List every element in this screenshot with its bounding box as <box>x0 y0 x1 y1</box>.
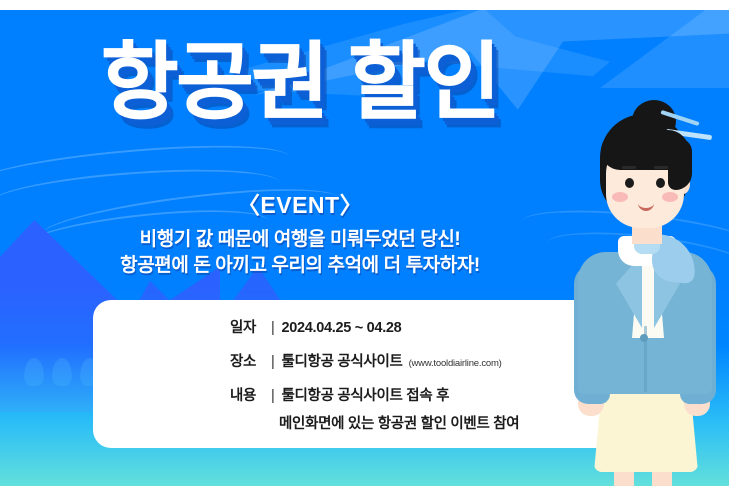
eyebrow-left <box>622 166 636 169</box>
info-separator: | <box>271 354 274 370</box>
info-label-content: 내용 <box>230 384 264 405</box>
info-separator: | <box>271 388 274 404</box>
info-row-place: 장소 | 툴디항공 공식사이트 (www.tooldiairline.com) <box>230 350 519 371</box>
info-content-second-line: 메인화면에 있는 항공권 할인 이벤트 참여 <box>279 412 519 433</box>
page-title: 항공권 할인 <box>0 40 600 124</box>
info-separator: | <box>271 320 274 336</box>
eye-right <box>656 178 665 188</box>
flight-attendant-illustration <box>556 112 729 486</box>
official-site-url[interactable]: (www.tooldiairline.com) <box>409 358 502 369</box>
info-value-content: 툴디항공 공식사이트 접속 후 <box>281 384 449 405</box>
info-label-place: 장소 <box>230 350 264 371</box>
event-tag-label: 〈EVENT〉 <box>0 186 600 220</box>
jacket-button <box>640 334 648 342</box>
promo-banner: 항공권 할인 〈EVENT〉 비행기 값 때문에 여행을 미뤄두었던 당신! 항… <box>0 0 729 486</box>
eyebrow-right <box>654 166 668 169</box>
cheek-right <box>662 192 678 202</box>
hair-side <box>668 138 692 190</box>
event-info-rows: 일자 | 2024.04.25 ~ 04.28 장소 | 툴디항공 공식사이트 … <box>230 316 519 433</box>
subtitle-line-2: 항공편에 돈 아끼고 우리의 추억에 더 투자하자! <box>0 250 600 277</box>
info-row-date: 일자 | 2024.04.25 ~ 04.28 <box>230 316 519 337</box>
eye-left <box>625 178 634 188</box>
info-value-place: 툴디항공 공식사이트 <box>281 350 402 371</box>
top-white-strip <box>0 0 729 10</box>
subtitle-line-1: 비행기 값 때문에 여행을 미뤄두었던 당신! <box>0 224 600 251</box>
info-row-content: 내용 | 툴디항공 공식사이트 접속 후 <box>230 384 519 405</box>
info-value-date: 2024.04.25 ~ 04.28 <box>281 320 401 336</box>
cheek-left <box>612 192 628 202</box>
info-label-date: 일자 <box>230 316 264 337</box>
